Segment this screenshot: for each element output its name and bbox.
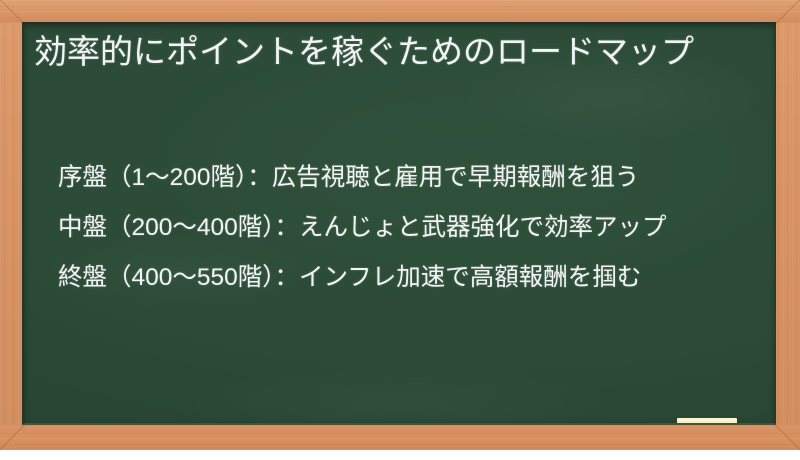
roadmap-list: 序盤（1〜200階）：広告視聴と雇用で早期報酬を狙う 中盤（200〜400階）：… bbox=[58, 159, 758, 309]
slide-title: 効率的にポイントを稼ぐためのロードマップ bbox=[34, 29, 734, 74]
chalkboard-surface: 効率的にポイントを稼ぐためのロードマップ 序盤（1〜200階）：広告視聴と雇用で… bbox=[22, 22, 776, 425]
frame-top-rail bbox=[0, 0, 800, 23]
chalk-stick-icon bbox=[677, 418, 737, 425]
blackboard-wooden-frame: 効率的にポイントを稼ぐためのロードマップ 序盤（1〜200階）：広告視聴と雇用で… bbox=[0, 0, 800, 450]
list-item: 終盤（400〜550階）：インフレ加速で高額報酬を掴む bbox=[58, 259, 758, 297]
frame-bottom-rail bbox=[0, 425, 800, 450]
list-item: 中盤（200〜400階）：えんじょと武器強化で効率アップ bbox=[58, 209, 758, 247]
list-item: 序盤（1〜200階）：広告視聴と雇用で早期報酬を狙う bbox=[58, 159, 758, 197]
